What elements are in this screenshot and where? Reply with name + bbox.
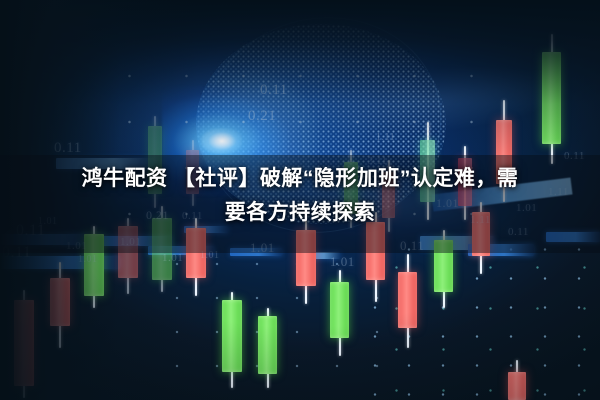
headline-text: 鸿牛配资 【社评】破解“隐形加班”认定难，需 要各方持续探索 xyxy=(0,162,600,230)
banner-image: 0.110.210.111.113.111.010.110.111.011.01… xyxy=(0,0,600,400)
headline-line-1: 鸿牛配资 【社评】破解“隐形加班”认定难，需 xyxy=(18,162,582,196)
headline-line-2: 要各方持续探索 xyxy=(18,196,582,230)
